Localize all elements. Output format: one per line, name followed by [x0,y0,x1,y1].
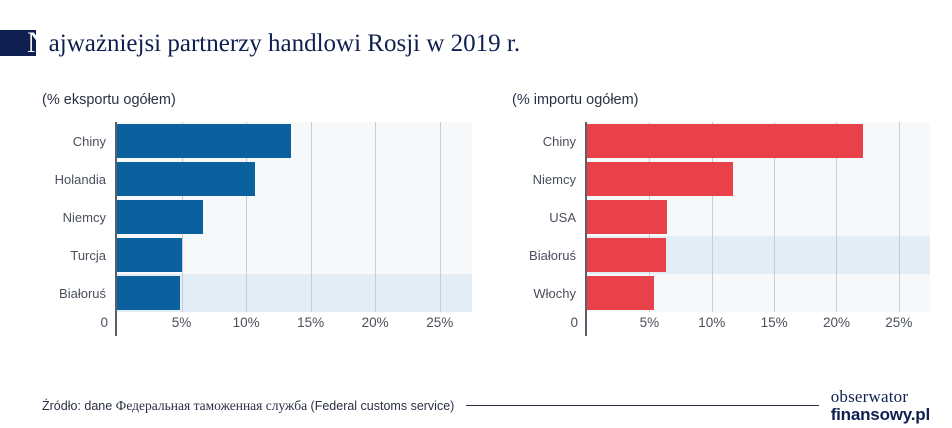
bar-row [117,122,472,160]
category-label: Holandia [42,160,115,198]
title-rest: ajważniejsi partnerzy handlowi Rosji w 2… [49,30,520,57]
bar-turcja [117,238,182,272]
logo-top-text: obserwator [831,388,930,405]
category-label: Białoruś [512,236,585,274]
page-title: Najważniejsi partnerzy handlowi Rosji w … [0,26,520,60]
export-chart-panel: (% eksportu ogółem) Chiny Holandia Niemc… [42,92,472,336]
x-tick-label: 15% [297,315,324,330]
export-x-axis: 0 5%10%15%20%25% [42,312,472,336]
footer: Źródło: dane Федеральная таможенная служ… [42,388,930,423]
x-tick-label: 5% [172,315,192,330]
category-label: Chiny [512,122,585,160]
bar-wlochy [587,276,654,310]
category-label: USA [512,198,585,236]
x-tick-label: 15% [761,315,788,330]
bar-usa [587,200,667,234]
export-plot-area [115,122,472,312]
category-label: Niemcy [512,160,585,198]
footer-divider [466,405,818,406]
import-x-axis-spacer: 0 [512,312,585,336]
source-agency-ru: Федеральная таможенная служба [116,398,307,413]
bar-row [587,236,930,274]
import-x-axis-track: 5%10%15%20%25% [585,312,930,336]
bar-bialorus [587,238,666,272]
category-label: Włochy [512,274,585,312]
title-text: Najważniejsi partnerzy handlowi Rosji w … [27,29,520,57]
import-x-axis: 0 5%10%15%20%25% [512,312,930,336]
bar-row [587,122,930,160]
source-suffix: (Federal customs service) [307,399,454,413]
x-tick-label: 5% [640,315,660,330]
bar-holandia [117,162,255,196]
category-label: Niemcy [42,198,115,236]
bar-row [587,274,930,312]
export-chart-body: Chiny Holandia Niemcy Turcja Białoruś [42,122,472,312]
x-tick-label: 10% [698,315,725,330]
x-tick-label: 25% [885,315,912,330]
x-tick-label: 25% [426,315,453,330]
import-category-labels: Chiny Niemcy USA Białoruś Włochy [512,122,585,312]
source-note: Źródło: dane Федеральная таможенная служ… [42,398,454,414]
import-plot-area [585,122,930,312]
x-tick-label-zero: 0 [100,315,108,330]
bar-bialorus [117,276,180,310]
import-chart: Chiny Niemcy USA Białoruś Włochy [512,122,930,336]
title-initial: N [27,26,49,59]
export-chart: Chiny Holandia Niemcy Turcja Białoruś [42,122,472,336]
x-tick-label-zero: 0 [570,315,578,330]
bar-row [117,160,472,198]
logo-bottom-text: finansowy.pl [831,406,930,423]
import-chart-panel: (% importu ogółem) Chiny Niemcy USA Biał… [512,92,930,336]
category-label: Chiny [42,122,115,160]
bar-row [587,160,930,198]
bar-chiny [117,124,291,158]
x-tick-label: 10% [233,315,260,330]
export-x-axis-track: 5%10%15%20%25% [115,312,472,336]
bar-row [117,274,472,312]
bar-row [117,236,472,274]
bar-niemcy [587,162,733,196]
import-bars [587,122,930,312]
source-prefix: Źródło: dane [42,399,116,413]
x-tick-label: 20% [823,315,850,330]
export-x-axis-spacer: 0 [42,312,115,336]
export-bars [117,122,472,312]
obserwator-finansowy-logo: obserwator finansowy.pl [831,388,930,423]
bar-row [117,198,472,236]
import-chart-subtitle: (% importu ogółem) [512,92,930,108]
x-tick-label: 20% [362,315,389,330]
import-chart-body: Chiny Niemcy USA Białoruś Włochy [512,122,930,312]
export-chart-subtitle: (% eksportu ogółem) [42,92,472,108]
bar-niemcy [117,200,203,234]
export-category-labels: Chiny Holandia Niemcy Turcja Białoruś [42,122,115,312]
category-label: Białoruś [42,274,115,312]
bar-chiny [587,124,863,158]
category-label: Turcja [42,236,115,274]
bar-row [587,198,930,236]
